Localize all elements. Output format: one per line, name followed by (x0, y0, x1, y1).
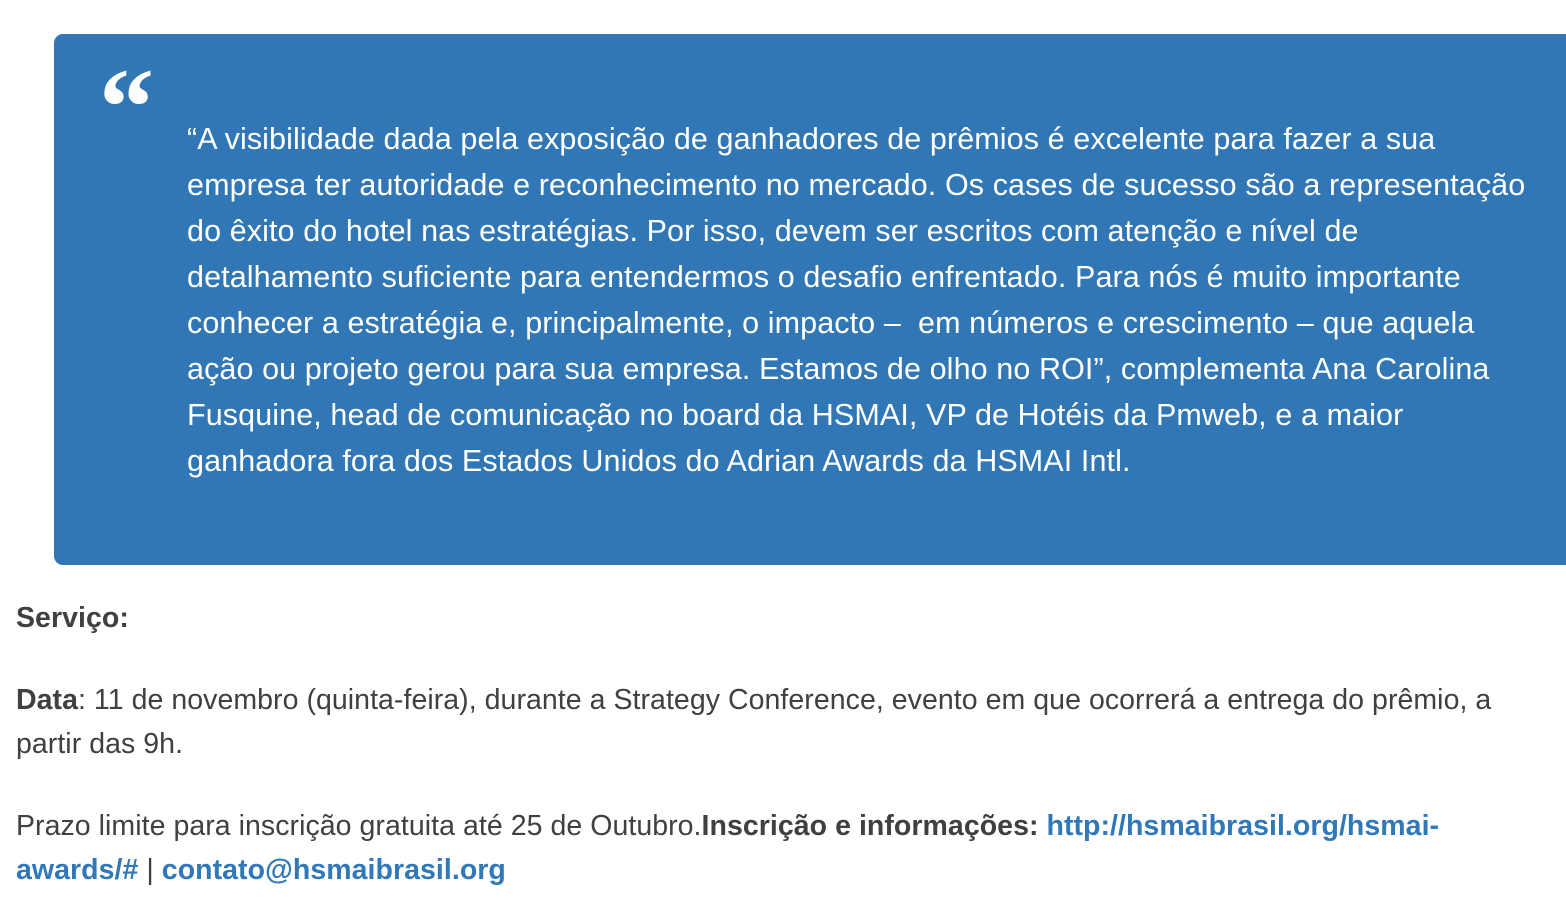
quote-body-text: “A visibilidade dada pela exposição de g… (187, 116, 1543, 484)
registration-deadline-text: Prazo limite para inscrição gratuita até… (16, 810, 702, 842)
testimonial-quote-card: “ “A visibilidade dada pela exposição de… (54, 34, 1566, 565)
service-registration-paragraph: Prazo limite para inscrição gratuita até… (16, 804, 1546, 892)
page-root: “ “A visibilidade dada pela exposição de… (0, 0, 1566, 924)
service-date-label: Data (16, 684, 78, 716)
service-heading: Serviço: (16, 596, 1546, 640)
service-date-paragraph: Data: 11 de novembro (quinta-feira), dur… (16, 678, 1546, 766)
link-separator: | (146, 854, 153, 886)
service-info-block: Serviço: Data: 11 de novembro (quinta-fe… (16, 596, 1546, 892)
service-date-value: : 11 de novembro (quinta-feira), durante… (16, 684, 1491, 760)
registration-info-label: Inscrição e informações: (702, 810, 1039, 842)
quote-open-icon: “ (99, 52, 152, 162)
contact-email-link[interactable]: contato@hsmaibrasil.org (162, 854, 506, 886)
